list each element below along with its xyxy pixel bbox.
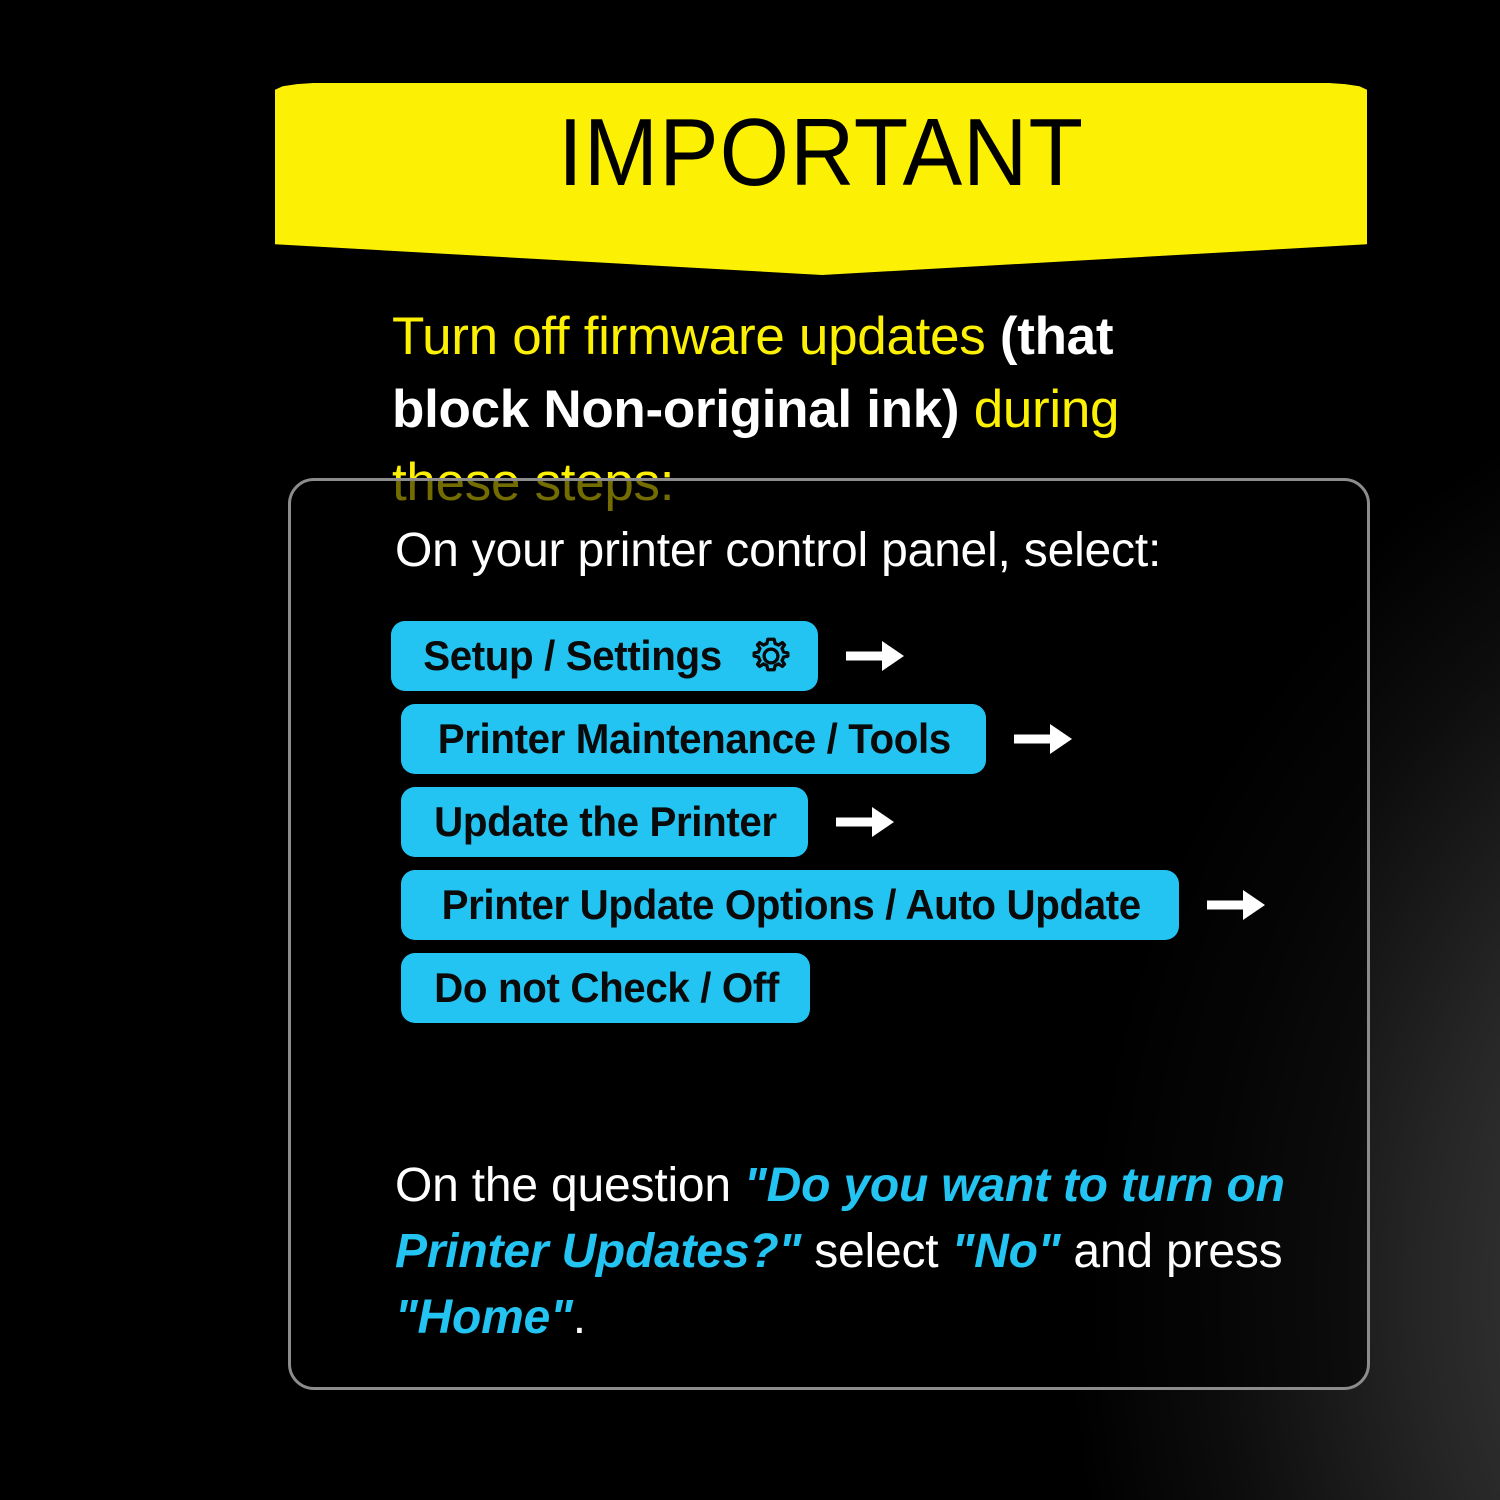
step-label: Printer Maintenance / Tools [438,715,951,763]
step-row: Printer Update Options / Auto Update [401,870,1331,940]
step-row: Setup / Settings [391,621,1331,691]
step-label: Do not Check / Off [434,964,779,1012]
step-button-update-the-printer[interactable]: Update the Printer [401,787,808,857]
closing-part-3: and press [1060,1225,1282,1278]
closing-quote-home: "Home" [395,1291,573,1344]
panel-lead-text: On your printer control panel, select: [395,523,1161,578]
banner-title-text: IMPORTANT [313,103,1329,204]
step-button-printer-maintenance-tools[interactable]: Printer Maintenance / Tools [401,704,986,774]
gear-icon [748,633,794,679]
step-button-setup-settings[interactable]: Setup / Settings [391,621,818,691]
step-row: Do not Check / Off [401,953,1331,1023]
closing-quote-no: "No" [952,1225,1061,1278]
steps-list: Setup / Settings [391,621,1331,1036]
step-button-do-not-check-off[interactable]: Do not Check / Off [401,953,810,1023]
step-row: Update the Printer [401,787,1331,857]
important-banner: IMPORTANT [275,83,1367,275]
arrow-right-icon [836,802,894,842]
headline-segment-1: Turn off firmware updates [392,307,1000,366]
closing-part-2: select [801,1225,951,1278]
arrow-right-icon [1014,719,1072,759]
poster-canvas: BEFORE THE INSTALLATION IMPORTANT Turn o… [0,0,1500,1500]
side-title-container: BEFORE THE INSTALLATION [0,0,250,1500]
instruction-panel: On your printer control panel, select: S… [288,478,1370,1390]
closing-paragraph: On the question "Do you want to turn on … [395,1153,1295,1352]
step-button-printer-update-options-auto-update[interactable]: Printer Update Options / Auto Update [401,870,1179,940]
step-row: Printer Maintenance / Tools [401,704,1331,774]
arrow-right-icon [1207,885,1265,925]
step-label: Update the Printer [434,798,777,846]
closing-part-1: On the question [395,1159,744,1212]
arrow-right-icon [846,636,904,676]
closing-part-4: . [573,1291,586,1344]
step-label: Printer Update Options / Auto Update [442,881,1141,929]
step-label: Setup / Settings [423,632,722,680]
